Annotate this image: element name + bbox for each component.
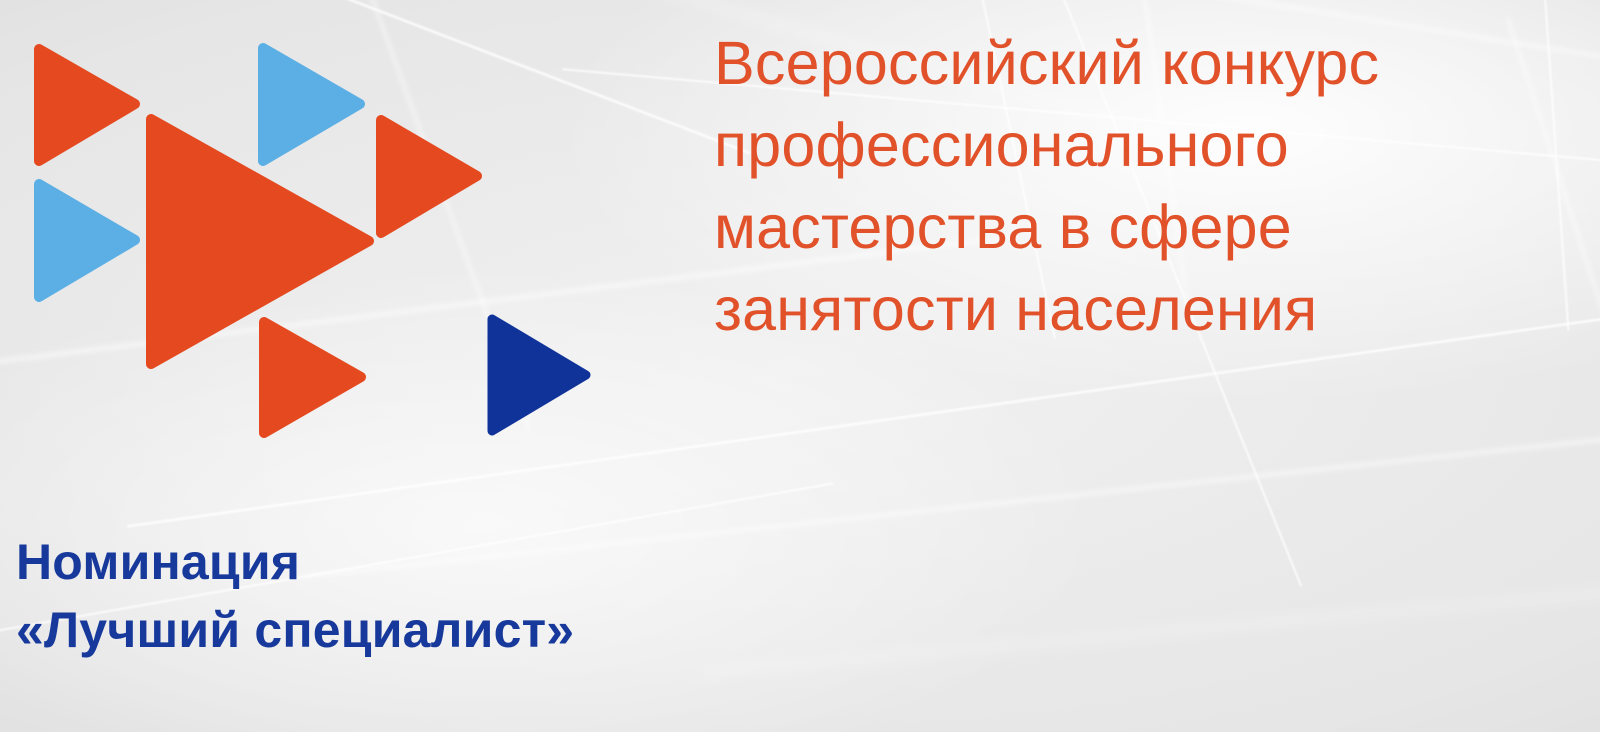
presentation-slide: Всероссийский конкурс профессионального … [0, 0, 1600, 732]
nomination-value: «Лучший специалист» [16, 596, 574, 664]
tri-orange-bottom-icon [264, 322, 361, 433]
page-title: Всероссийский конкурс профессионального … [714, 22, 1534, 350]
logo-svg [0, 0, 620, 470]
tri-lightblue-left-icon [39, 184, 135, 297]
tri-darkblue-icon [492, 319, 586, 431]
tri-lightblue-top-icon [263, 48, 360, 161]
nomination-block: Номинация «Лучший специалист» [16, 528, 574, 664]
tri-orange-right-icon [381, 120, 477, 233]
tri-orange-top-left-icon [39, 49, 135, 161]
nomination-label: Номинация [16, 528, 574, 596]
logo [0, 0, 620, 470]
